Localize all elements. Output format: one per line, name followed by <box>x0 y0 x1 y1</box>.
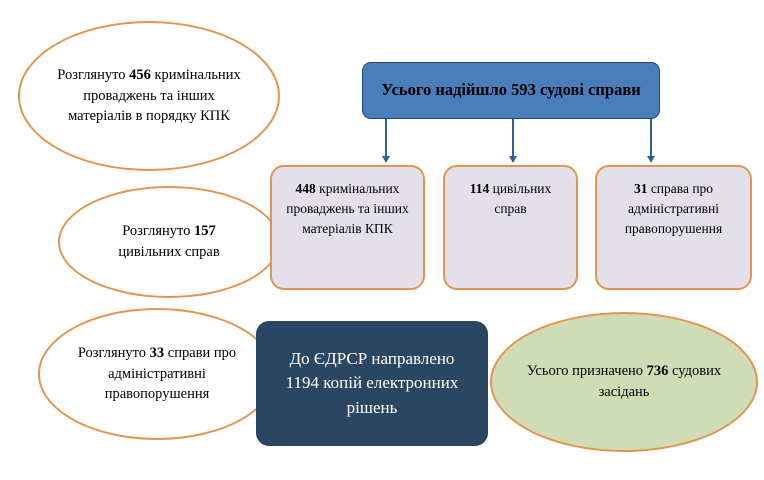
breakdown-card-civil-label: 114 цивільних справ <box>445 179 576 219</box>
reviewed-administrative-label: Розглянуто 33 справи про адміністративні… <box>40 343 274 405</box>
breakdown-card-criminal: 448 кримінальних проваджень та інших мат… <box>270 165 425 290</box>
breakdown-card-criminal-label: 448 кримінальних проваджень та інших мат… <box>272 179 423 239</box>
edrsr-decisions-box: До ЄДРСР направлено 1194 копій електронн… <box>256 321 488 446</box>
breakdown-card-civil: 114 цивільних справ <box>443 165 578 290</box>
connector-arrow-civil-icon <box>512 119 514 157</box>
breakdown-card-administrative: 31 справа про адміністративні правопоруш… <box>595 165 752 290</box>
scheduled-sessions-ellipse: Усього призначено 736 судових засідань <box>490 312 758 452</box>
breakdown-card-administrative-label: 31 справа про адміністративні правопоруш… <box>597 179 750 239</box>
total-cases-header-label: Усього надійшло 593 судові справи <box>369 79 653 101</box>
edrsr-decisions-label: До ЄДРСР направлено 1194 копій електронн… <box>256 347 488 421</box>
reviewed-criminal-ellipse: Розглянуто 456 кримінальних проваджень т… <box>18 21 280 171</box>
connector-arrow-criminal-icon <box>385 119 387 157</box>
reviewed-civil-label: Розглянуто 157 цивільних справ <box>60 221 278 262</box>
connector-arrow-administrative-icon <box>650 119 652 157</box>
reviewed-administrative-ellipse: Розглянуто 33 справи про адміністративні… <box>38 308 276 440</box>
reviewed-criminal-label: Розглянуто 456 кримінальних проваджень т… <box>20 65 278 127</box>
infographic-canvas: Розглянуто 456 кримінальних проваджень т… <box>0 0 764 480</box>
total-cases-header-box: Усього надійшло 593 судові справи <box>362 62 660 119</box>
scheduled-sessions-label: Усього призначено 736 судових засідань <box>492 361 756 402</box>
reviewed-civil-ellipse: Розглянуто 157 цивільних справ <box>58 186 280 298</box>
